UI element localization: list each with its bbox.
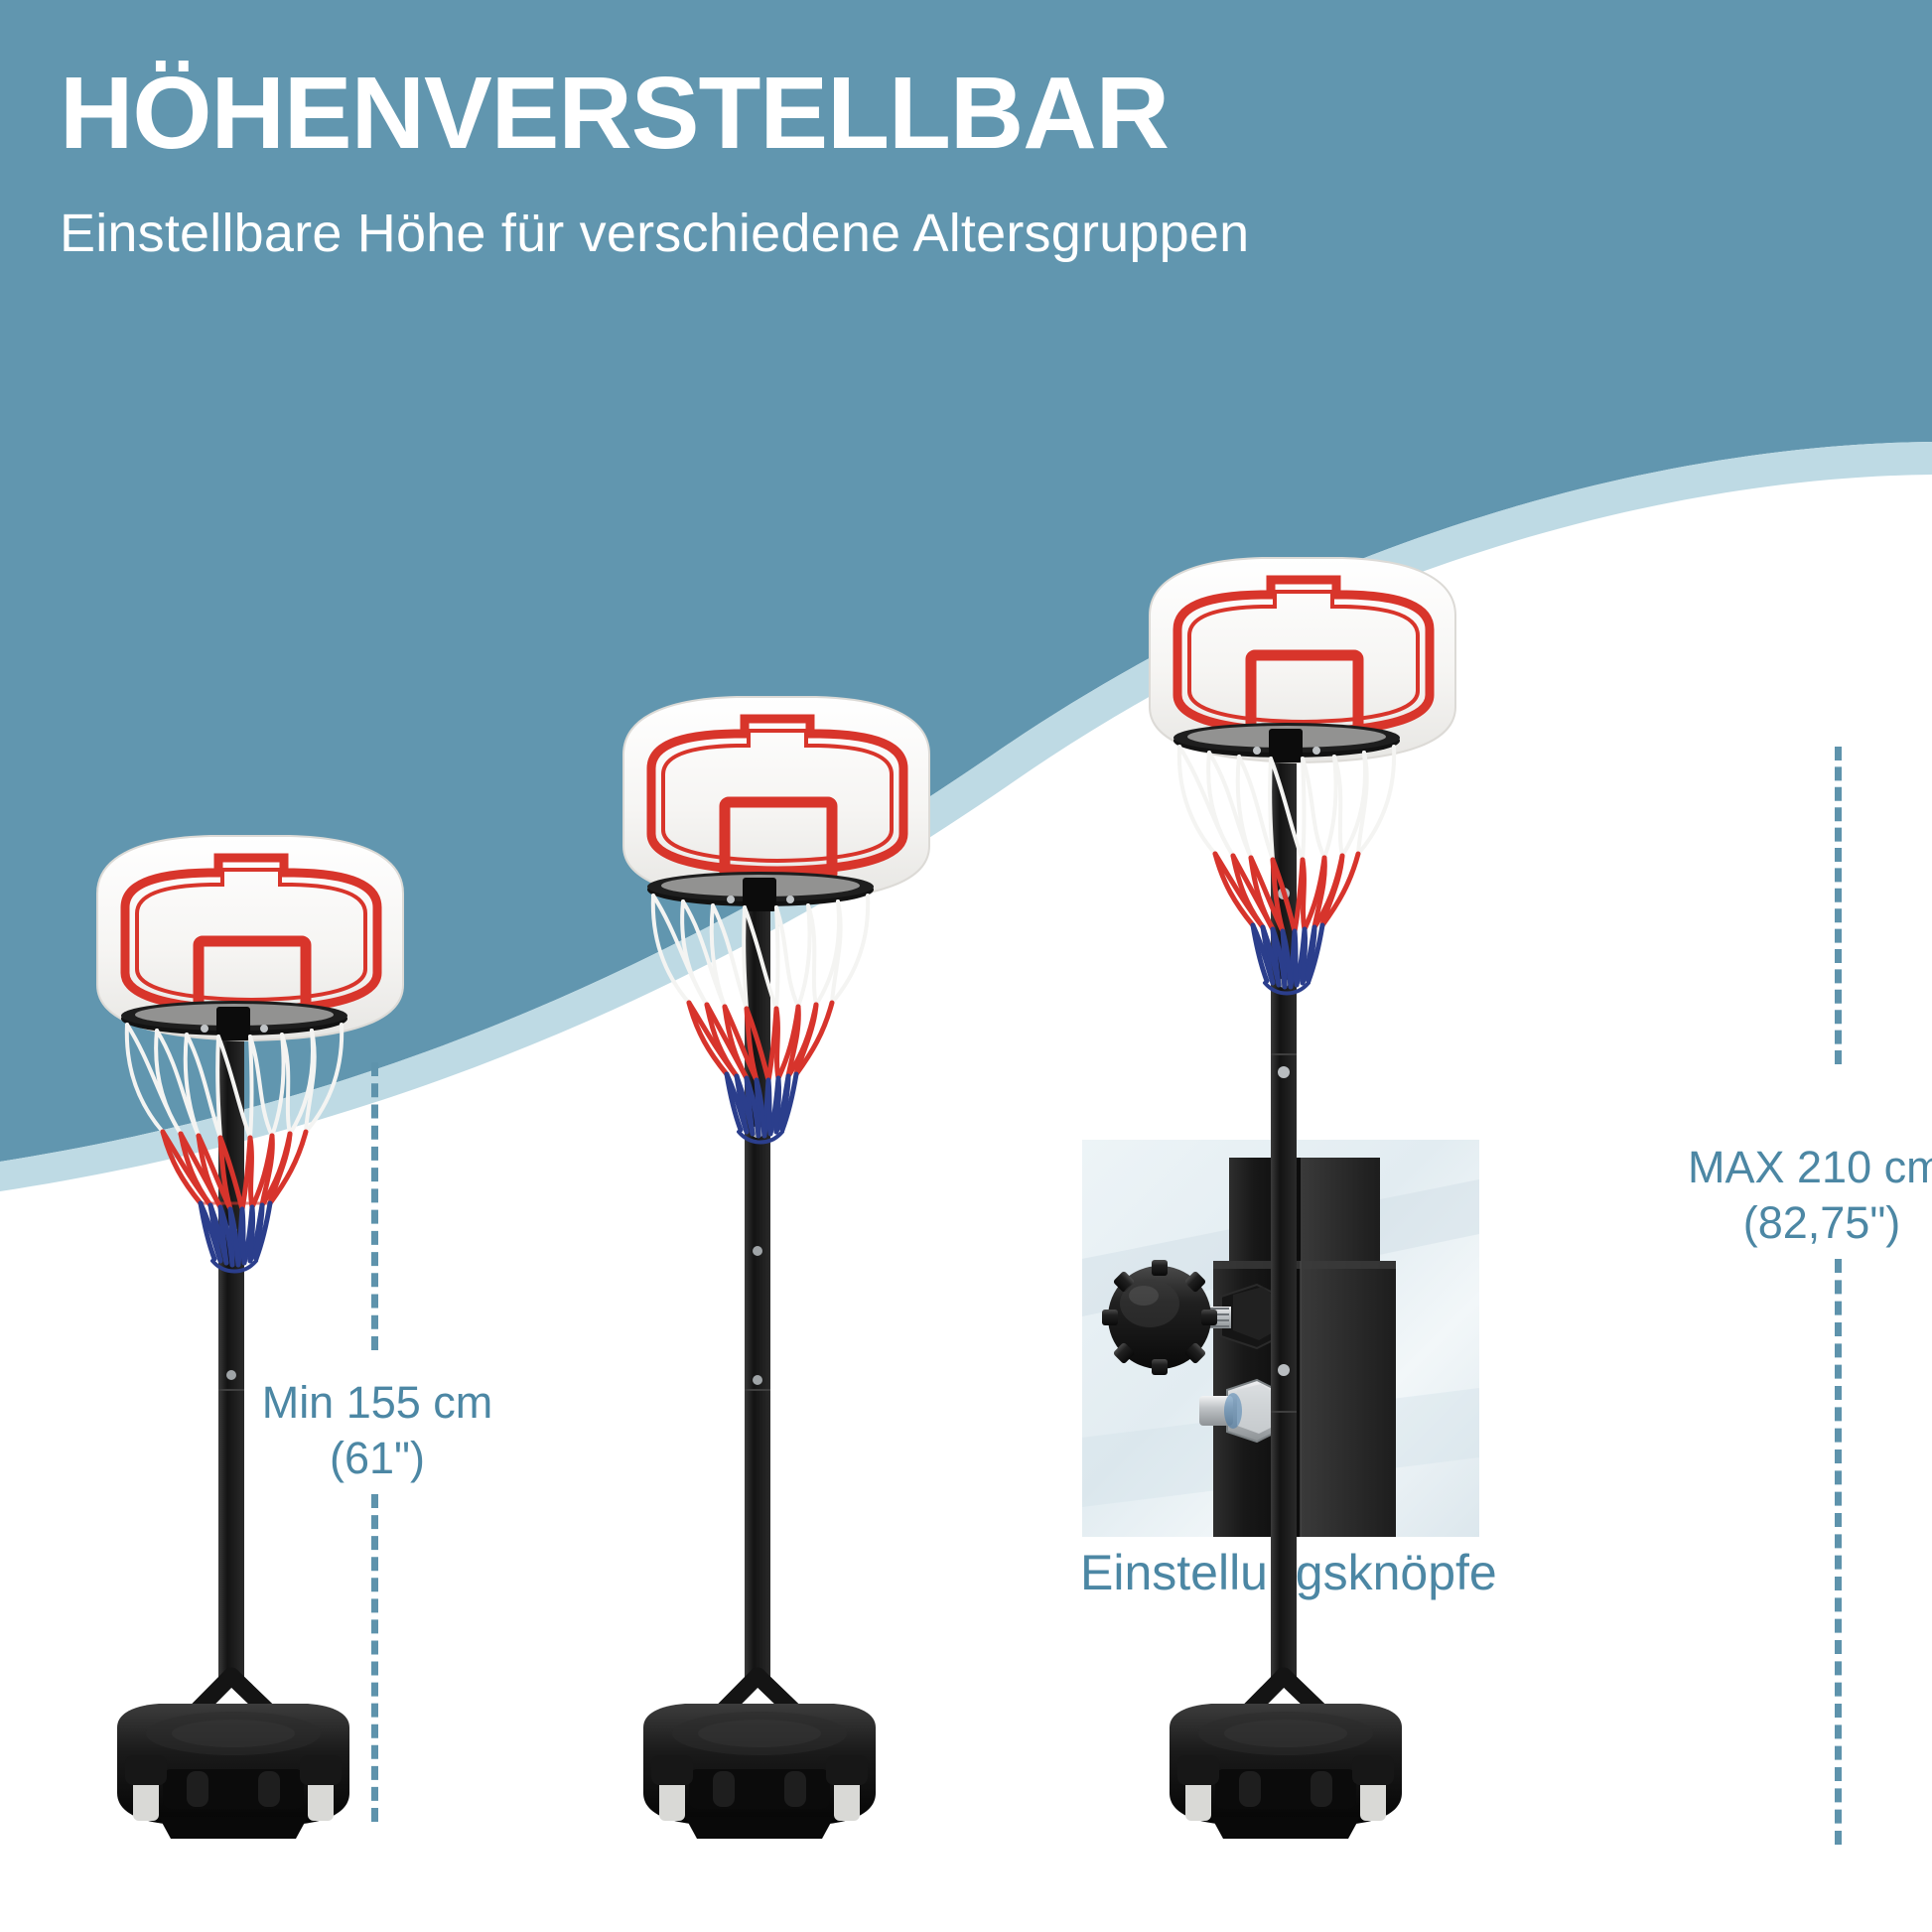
- hoop-stand-mid: [586, 695, 1003, 1866]
- dashed-guide-max-upper: [1835, 747, 1842, 1064]
- page-subtitle: Einstellbare Höhe für verschiedene Alter…: [60, 207, 1249, 260]
- telescoping-pole: [218, 993, 244, 1688]
- page-title: HÖHENVERSTELLBAR: [60, 62, 1169, 164]
- wheeled-base: [1170, 1676, 1402, 1839]
- backboard: [623, 697, 929, 901]
- hoop-stand-max: [1112, 556, 1529, 1866]
- callout-max-line1: MAX 210 cm: [1688, 1142, 1932, 1192]
- hoop-stand-min: [60, 834, 477, 1866]
- wheeled-base: [117, 1676, 349, 1839]
- telescoping-pole: [745, 864, 770, 1688]
- dashed-guide-max-lower: [1835, 1259, 1842, 1845]
- callout-max-height: MAX 210 cm (82,75"): [1688, 1140, 1932, 1252]
- callout-max-line2: (82,75"): [1688, 1195, 1932, 1251]
- wheeled-base: [643, 1676, 876, 1839]
